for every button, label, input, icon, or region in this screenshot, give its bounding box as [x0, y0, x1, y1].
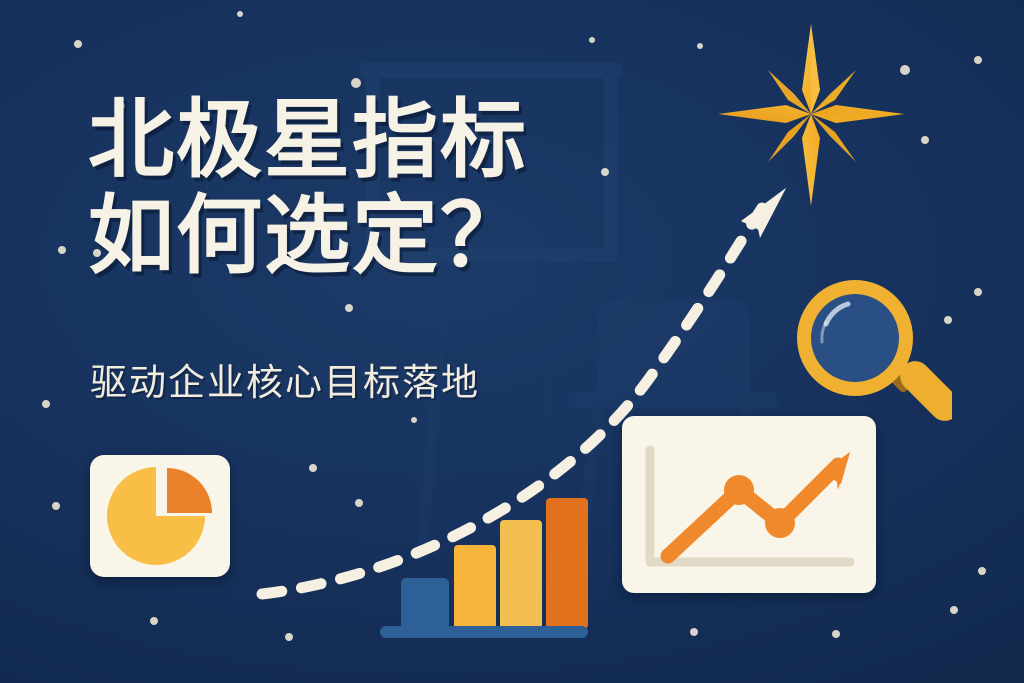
page-subtitle: 驱动企业核心目标落地	[90, 352, 480, 406]
page-title-line-1: 北极星指标	[88, 92, 708, 188]
line-chart-card-icon	[622, 416, 876, 593]
headline-block: 北极星指标 如何选定？	[88, 92, 708, 285]
page-title-line-2: 如何选定？	[88, 188, 708, 284]
pie-chart-graphic	[90, 455, 230, 577]
pie-chart-card-icon	[90, 455, 230, 577]
poster-canvas: 北极星指标 如何选定？ 驱动企业核心目标落地	[0, 0, 1024, 683]
line-chart-graphic	[622, 416, 876, 593]
bar-chart-icon	[376, 495, 592, 641]
